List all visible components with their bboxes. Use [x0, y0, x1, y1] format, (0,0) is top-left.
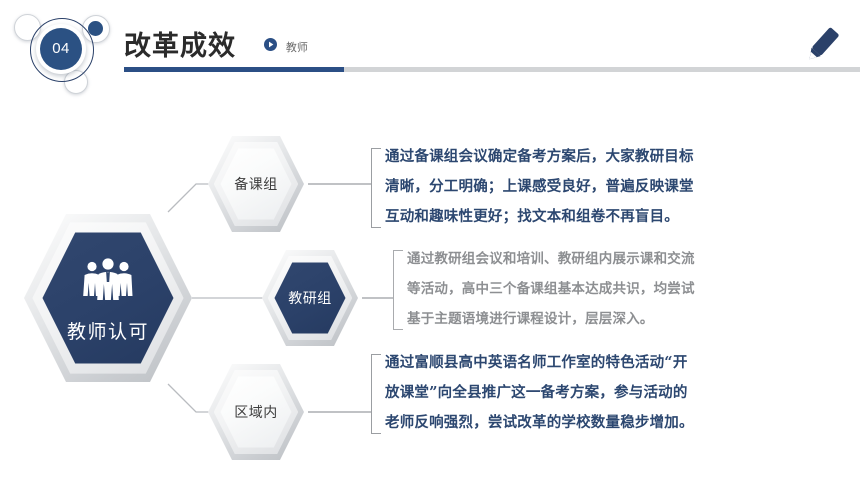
title-underline	[124, 67, 860, 72]
people-group-icon	[80, 258, 136, 305]
bracket-block-0	[371, 148, 381, 228]
text-line: 放课堂”向全县推广这一备考方案，参与活动的	[385, 378, 694, 408]
text-line: 通过富顺县高中英语名师工作室的特色活动“开	[385, 348, 694, 378]
diagram-area: 教师认可 备课组 教研组 区域内 通过备课组会议确定备考方案后，大家教研目标 清…	[0, 100, 863, 486]
text-line: 清晰，分工明确；上课感受良好，普遍反映课堂	[385, 172, 694, 202]
bracket-block-1	[393, 250, 403, 330]
slide-header: 04 改革成效 教师	[0, 0, 863, 100]
text-line: 通过教研组会议和培训、教研组内展示课和交流	[407, 244, 695, 274]
center-node-teacher-recognition[interactable]: 教师认可	[24, 214, 192, 382]
section-number: 04	[40, 28, 82, 70]
title-underline-accent	[124, 67, 344, 72]
node-quyunei[interactable]: 区域内	[208, 364, 304, 460]
text-line: 基于主题语境进行课程设计，层层深入。	[407, 304, 695, 334]
bracket-block-2	[371, 354, 381, 434]
text-line: 老师反响强烈，尝试改革的学校数量稳步增加。	[385, 408, 694, 438]
text-block-jiaoyanzu: 通过教研组会议和培训、教研组内展示课和交流 等活动，高中三个备课组基本达成共识，…	[407, 244, 695, 334]
subtitle-label: 教师	[286, 39, 308, 55]
section-number-badge-cluster: 04	[6, 4, 126, 100]
node-jiaoyanzu[interactable]: 教研组	[262, 250, 358, 346]
node-jiaoyanzu-label: 教研组	[262, 288, 358, 308]
play-circle-icon	[264, 38, 277, 56]
text-line: 等活动，高中三个备课组基本达成共识，均尝试	[407, 274, 695, 304]
pencil-icon	[799, 24, 845, 71]
title-zone: 改革成效 教师	[124, 24, 308, 63]
node-beikezu-label: 备课组	[208, 174, 304, 194]
text-block-quyunei: 通过富顺县高中英语名师工作室的特色活动“开 放课堂”向全县推广这一备考方案，参与…	[385, 348, 694, 438]
node-beikezu[interactable]: 备课组	[208, 136, 304, 232]
node-quyunei-label: 区域内	[208, 402, 304, 422]
page-title: 改革成效	[124, 24, 236, 63]
subtitle-chip: 教师	[264, 38, 307, 56]
center-node-label: 教师认可	[24, 317, 192, 344]
text-line: 互动和趣味性更好；找文本和组卷不再盲目。	[385, 202, 694, 232]
text-line: 通过备课组会议确定备考方案后，大家教研目标	[385, 142, 694, 172]
text-block-beikezu: 通过备课组会议确定备考方案后，大家教研目标 清晰，分工明确；上课感受良好，普遍反…	[385, 142, 694, 232]
